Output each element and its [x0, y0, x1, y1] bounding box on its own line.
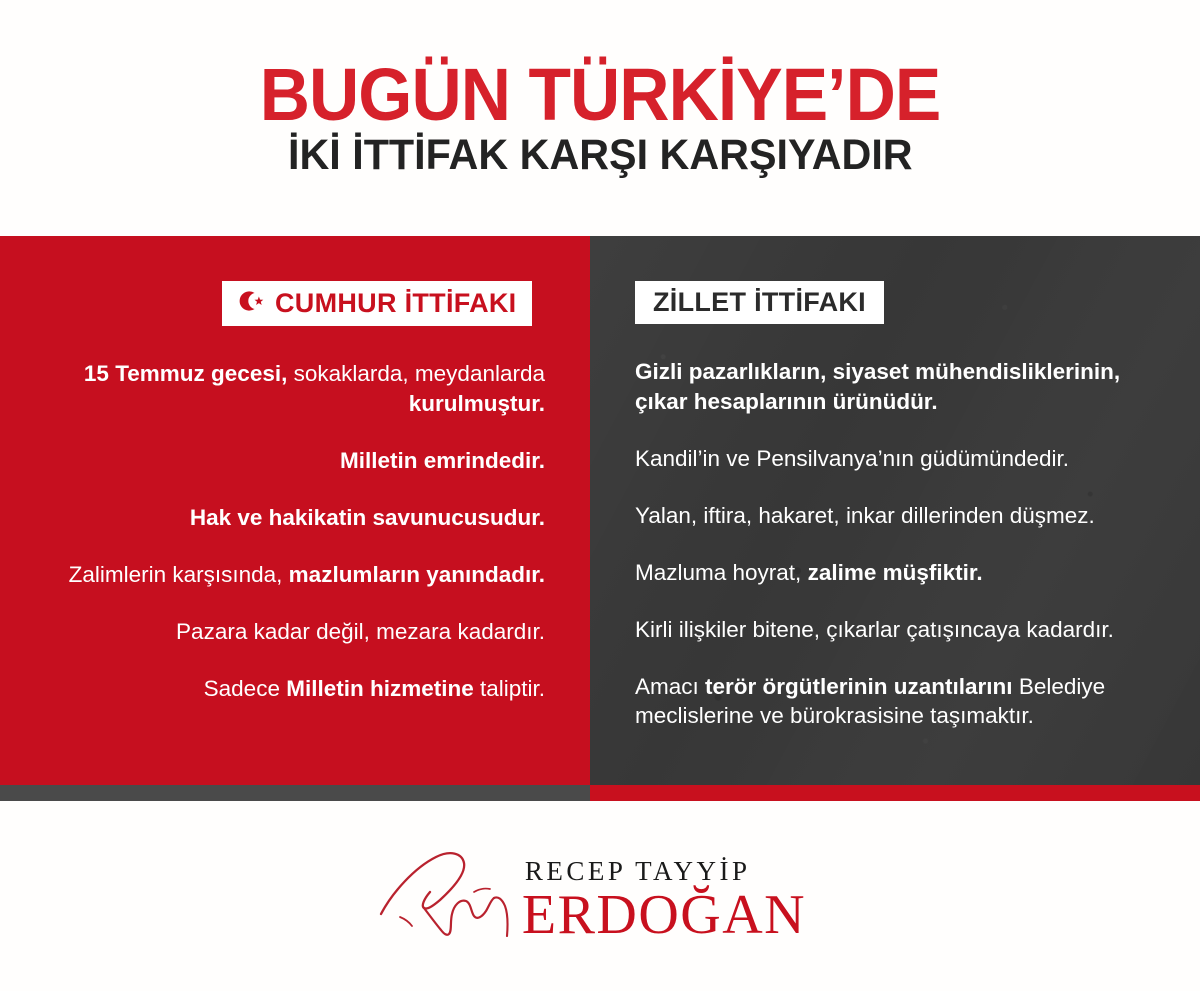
- column-zillet-ittifaki: ZİLLET İTTİFAKI Gizli pazarlıkların, siy…: [590, 236, 1200, 785]
- list-item: Mazluma hoyrat, zalime müşfiktir.: [635, 558, 1155, 588]
- column-cumhur-ittifaki: CUMHUR İTTİFAKI 15 Temmuz gecesi, sokakl…: [0, 236, 590, 785]
- handwritten-signature-icon: [378, 844, 528, 947]
- signature-name: RECEP TAYYİP ERDOĞAN: [522, 858, 806, 943]
- list-item: Sadece Milletin hizmetine taliptir.: [45, 674, 545, 704]
- list-item: Pazara kadar değil, mezara kadardır.: [45, 617, 545, 647]
- list-item: Yalan, iftira, hakaret, inkar dillerinde…: [635, 501, 1155, 531]
- signature-first-name: RECEP TAYYİP: [525, 858, 751, 885]
- list-item: Amacı terör örgütlerinin uzantılarını Be…: [635, 672, 1155, 732]
- page-subtitle: İKİ İTTİFAK KARŞI KARŞIYADIR: [288, 134, 913, 177]
- list-cumhur-ittifaki: 15 Temmuz gecesi, sokaklarda, meydanlard…: [45, 359, 545, 703]
- list-item: Zalimlerin karşısında, mazlumların yanın…: [45, 560, 545, 590]
- list-item: Kandil’in ve Pensilvanya’nın güdümündedi…: [635, 444, 1155, 474]
- badge-cumhur-ittifaki: CUMHUR İTTİFAKI: [222, 281, 532, 326]
- signature-last-name: ERDOĞAN: [522, 887, 806, 943]
- poster-footer: RECEP TAYYİP ERDOĞAN: [0, 801, 1200, 991]
- badge-label-zillet: ZİLLET İTTİFAKI: [653, 289, 866, 316]
- list-zillet-ittifaki: Gizli pazarlıkların, siyaset mühendislik…: [635, 357, 1155, 731]
- badge-label-cumhur: CUMHUR İTTİFAKI: [275, 290, 516, 317]
- list-item: Gizli pazarlıkların, siyaset mühendislik…: [635, 357, 1155, 417]
- comparison-panel: CUMHUR İTTİFAKI 15 Temmuz gecesi, sokakl…: [0, 236, 1200, 785]
- list-item: Kirli ilişkiler bitene, çıkarlar çatışın…: [635, 615, 1155, 645]
- list-item: Hak ve hakikatin savunucusudur.: [45, 503, 545, 533]
- signature-block: RECEP TAYYİP ERDOĞAN: [378, 844, 806, 949]
- divider-stripe: [0, 785, 1200, 801]
- poster-header: BUGÜN TÜRKİYE’DE İKİ İTTİFAK KARŞI KARŞI…: [0, 0, 1200, 236]
- page-title: BUGÜN TÜRKİYE’DE: [260, 59, 941, 130]
- list-item: 15 Temmuz gecesi, sokaklarda, meydanlard…: [45, 359, 545, 419]
- badge-zillet-ittifaki: ZİLLET İTTİFAKI: [635, 281, 884, 324]
- stripe-segment-red: [590, 785, 1200, 801]
- turkish-crescent-star-icon: [234, 289, 264, 318]
- list-item: Milletin emrindedir.: [45, 446, 545, 476]
- stripe-segment-dark: [0, 785, 590, 801]
- infographic-poster: BUGÜN TÜRKİYE’DE İKİ İTTİFAK KARŞI KARŞI…: [0, 0, 1200, 991]
